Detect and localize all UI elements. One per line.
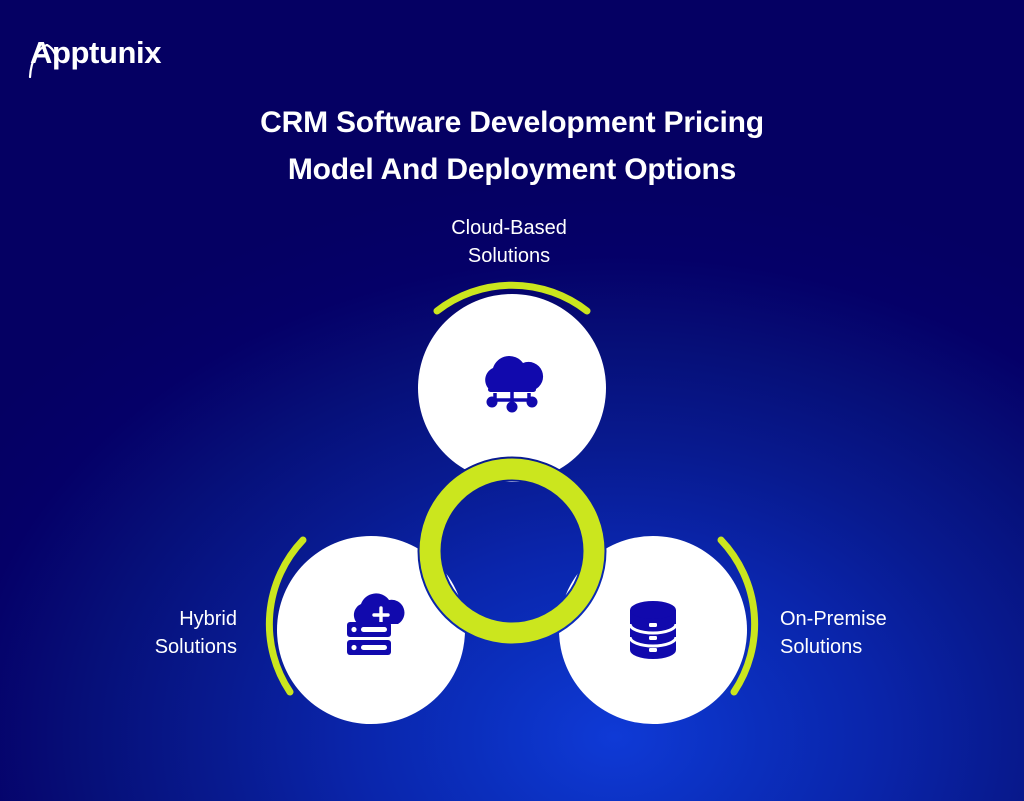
node-label-hybrid: Hybrid Solutions xyxy=(20,605,237,662)
network-node-right xyxy=(527,397,538,408)
db-led-2 xyxy=(649,636,657,640)
db-led-1 xyxy=(649,623,657,627)
db-led-3 xyxy=(649,648,657,652)
server-slot-bottom xyxy=(361,645,387,650)
server-led-top xyxy=(351,627,356,632)
node-label-hybrid-line-1: Hybrid xyxy=(20,605,237,633)
node-label-on-premise-line-1: On-Premise xyxy=(780,605,1020,633)
node-label-cloud-based: Cloud-Based Solutions xyxy=(394,214,624,271)
node-label-on-premise-line-2: Solutions xyxy=(780,633,1020,661)
server-slot-top xyxy=(361,627,387,632)
network-node-left xyxy=(487,397,498,408)
center-accent-ring xyxy=(430,469,594,633)
node-label-on-premise: On-Premise Solutions xyxy=(780,605,1020,662)
db-top-cap xyxy=(630,601,676,619)
infographic-canvas: Apptunix CRM Software Development Pricin… xyxy=(0,0,1024,801)
server-led-bottom xyxy=(351,645,356,650)
database-stack-icon xyxy=(630,601,676,659)
node-label-cloud-based-line-1: Cloud-Based xyxy=(394,214,624,242)
triad-diagram xyxy=(0,0,1024,801)
node-label-hybrid-line-2: Solutions xyxy=(20,633,237,661)
logo-wordmark: Apptunix xyxy=(30,37,161,68)
node-label-cloud-based-line-2: Solutions xyxy=(394,242,624,270)
cloud-base-bar xyxy=(488,387,536,392)
network-node-center xyxy=(507,402,518,413)
